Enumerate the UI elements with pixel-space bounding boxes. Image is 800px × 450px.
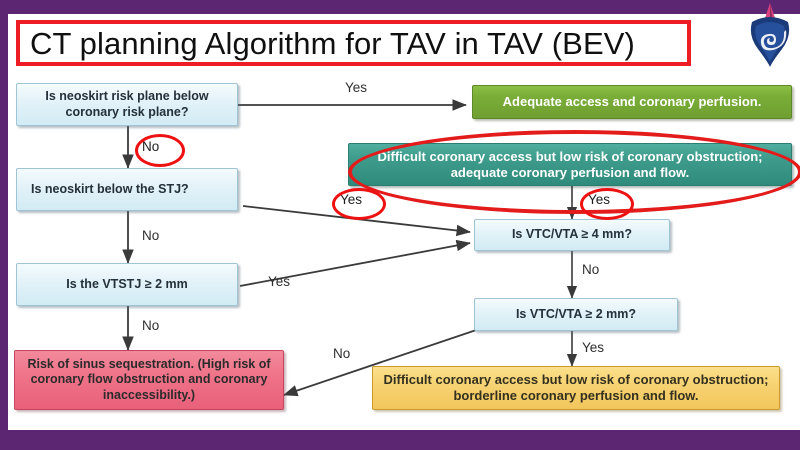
node-adequate-access-and-coronary-perfusion[interactable]: Adequate access and coronary perfusion. bbox=[472, 85, 792, 119]
node-is-vtstj-ge-2mm[interactable]: Is the VTSTJ ≥ 2 mm bbox=[16, 263, 238, 306]
edge-label-yes-vtc2: Yes bbox=[582, 340, 604, 355]
edge-label-yes-teal-down: Yes bbox=[588, 192, 610, 207]
node-risk-of-sinus-sequestration[interactable]: Risk of sinus sequestration. (High risk … bbox=[14, 350, 284, 410]
slide-canvas: CT planning Algorithm for TAV in TAV (BE… bbox=[0, 0, 800, 450]
node-is-neoskirt-risk-plane-below-coronary[interactable]: Is neoskirt risk plane below coronary ri… bbox=[16, 83, 238, 126]
edge-label-no-vtc2: No bbox=[333, 346, 350, 361]
edge-label-no-stj: No bbox=[142, 228, 159, 243]
edge-label-yes-top: Yes bbox=[345, 80, 367, 95]
edge-label-yes-vtstj: Yes bbox=[268, 274, 290, 289]
node-difficult-access-borderline-perfusion[interactable]: Difficult coronary access but low risk o… bbox=[372, 366, 780, 410]
node-is-vtc-vta-ge-4mm[interactable]: Is VTC/VTA ≥ 4 mm? bbox=[474, 219, 670, 251]
edge-label-yes-stj: Yes bbox=[340, 192, 362, 207]
node-difficult-access-adequate-perfusion[interactable]: Difficult coronary access but low risk o… bbox=[348, 143, 792, 186]
node-is-vtc-vta-ge-2mm[interactable]: Is VTC/VTA ≥ 2 mm? bbox=[474, 298, 678, 331]
node-is-neoskirt-below-stj[interactable]: Is neoskirt below the STJ? bbox=[16, 168, 238, 211]
edge-label-no-vtc4: No bbox=[582, 262, 599, 277]
edge-label-no-first: No bbox=[142, 139, 159, 154]
edge-label-no-vtstj: No bbox=[142, 318, 159, 333]
